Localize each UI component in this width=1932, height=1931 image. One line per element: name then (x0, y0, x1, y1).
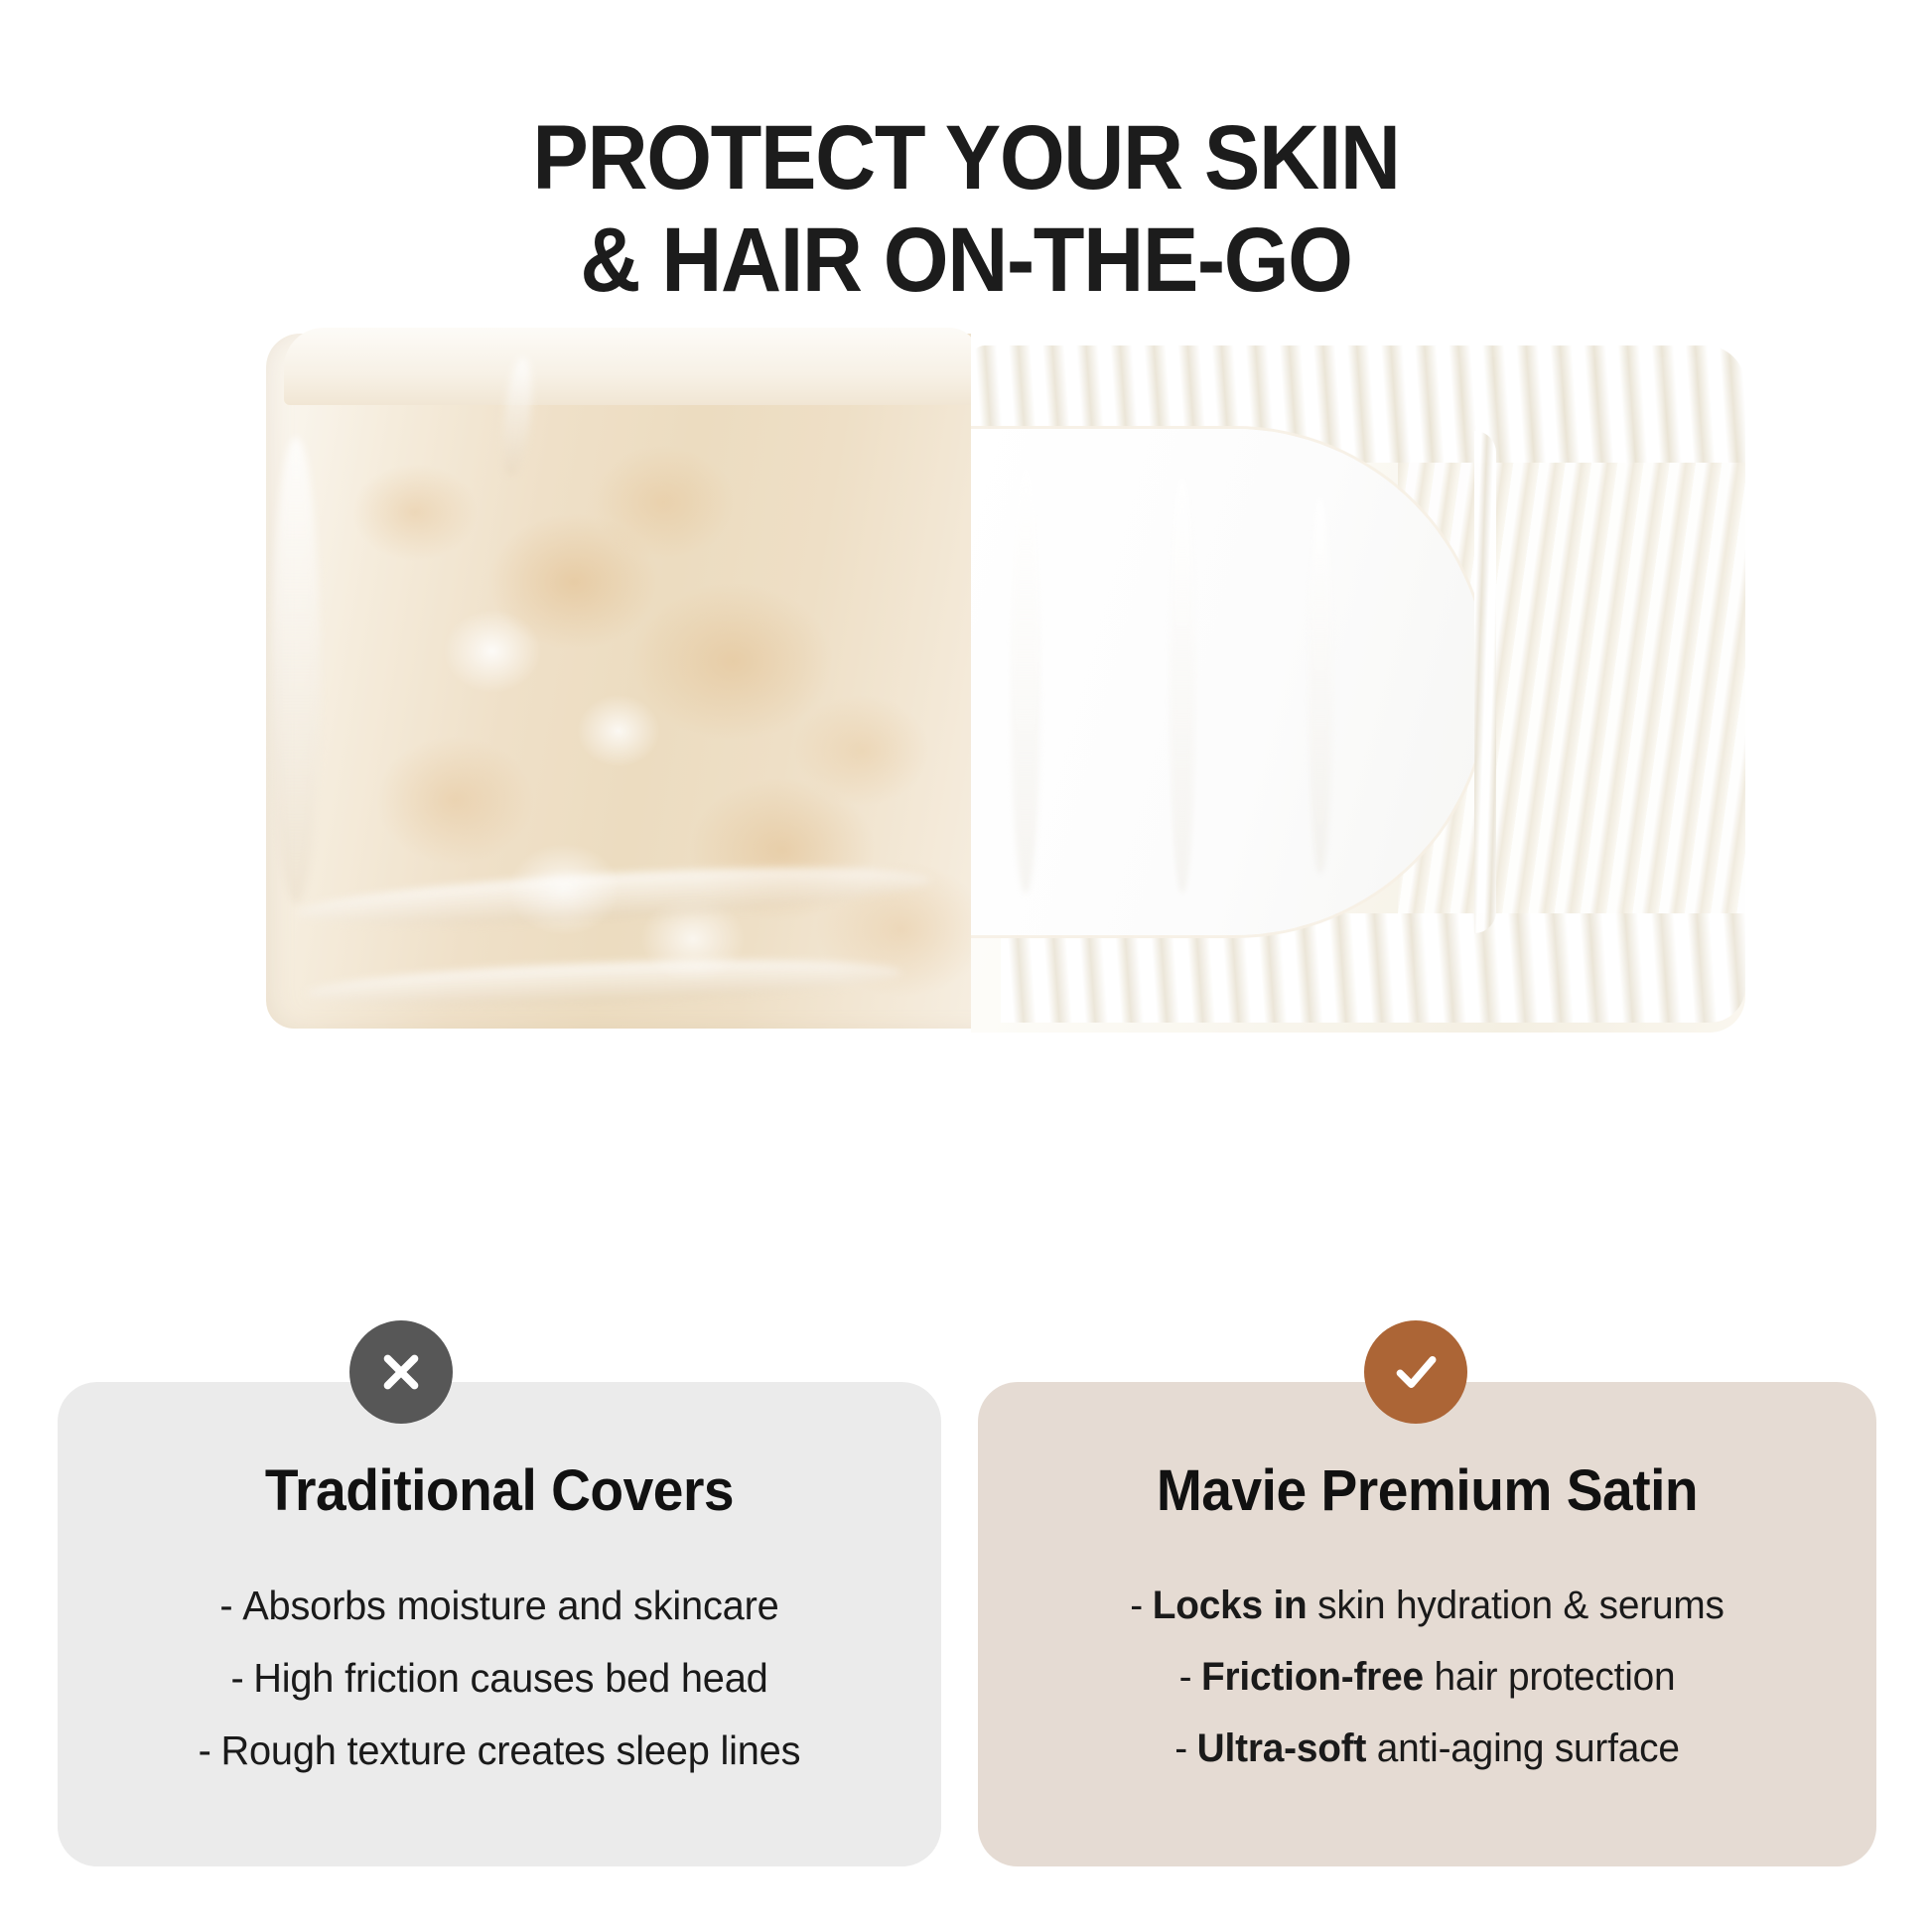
pillow-half-stained (266, 318, 971, 1042)
fabric-crease (272, 437, 320, 903)
bullet-bold-text: Locks in (1153, 1584, 1308, 1627)
stained-fabric (266, 334, 971, 1029)
headline-line-1: PROTECT YOUR SKIN (532, 107, 1399, 208)
page-title: PROTECT YOUR SKIN & HAIR ON-THE-GO (77, 107, 1855, 312)
bullet-bold-text: Ultra-soft (1197, 1726, 1367, 1770)
bullet-text: skin hydration & serums (1317, 1584, 1725, 1627)
status-badge-negative (349, 1320, 453, 1424)
headline-line-2: & HAIR ON-THE-GO (77, 209, 1855, 312)
list-item: -Locks in skin hydration & serums (992, 1570, 1863, 1641)
x-icon (374, 1345, 428, 1399)
bullet-dash: - (1130, 1584, 1143, 1627)
card-title-mavie: Mavie Premium Satin (1001, 1457, 1855, 1524)
pillow-half-satin (971, 318, 1745, 1042)
infographic-page: PROTECT YOUR SKIN & HAIR ON-THE-GO (0, 0, 1932, 1931)
fabric-fold (1309, 496, 1332, 874)
pillow-split-photo (266, 318, 1745, 1042)
check-icon (1389, 1345, 1443, 1399)
bullet-bold-text: Friction-free (1201, 1655, 1424, 1699)
bullet-dash: - (199, 1727, 211, 1773)
bullet-list-mavie: -Locks in skin hydration & serums -Frict… (978, 1570, 1876, 1784)
bullet-text: Rough texture creates sleep lines (220, 1727, 800, 1773)
list-item: -High friction causes bed head (70, 1642, 927, 1715)
pillow-top-lip-left (284, 328, 971, 405)
comparison-card-traditional: Traditional Covers -Absorbs moisture and… (58, 1382, 941, 1866)
bullet-text: anti-aging surface (1377, 1726, 1680, 1770)
bullet-dash: - (219, 1583, 232, 1628)
list-item: -Absorbs moisture and skincare (70, 1570, 927, 1642)
bullet-dash: - (1179, 1655, 1192, 1699)
status-badge-positive (1364, 1320, 1467, 1424)
bullet-text: Absorbs moisture and skincare (242, 1583, 778, 1628)
bullet-dash: - (230, 1655, 243, 1701)
list-item: -Friction-free hair protection (992, 1641, 1863, 1713)
fabric-fold (1011, 467, 1040, 894)
list-item: -Rough texture creates sleep lines (70, 1715, 927, 1787)
bullet-text: High friction causes bed head (253, 1655, 767, 1701)
list-item: -Ultra-soft anti-aging surface (992, 1713, 1863, 1784)
bullet-list-traditional: -Absorbs moisture and skincare -High fri… (58, 1570, 941, 1787)
bullet-dash: - (1174, 1726, 1187, 1770)
comparison-card-mavie: Mavie Premium Satin -Locks in skin hydra… (978, 1382, 1876, 1866)
card-title-traditional: Traditional Covers (79, 1457, 919, 1524)
bullet-text: hair protection (1434, 1655, 1675, 1699)
satin-face-panel (971, 429, 1487, 935)
fabric-fold (1170, 477, 1195, 894)
hero-image (0, 298, 1932, 1082)
